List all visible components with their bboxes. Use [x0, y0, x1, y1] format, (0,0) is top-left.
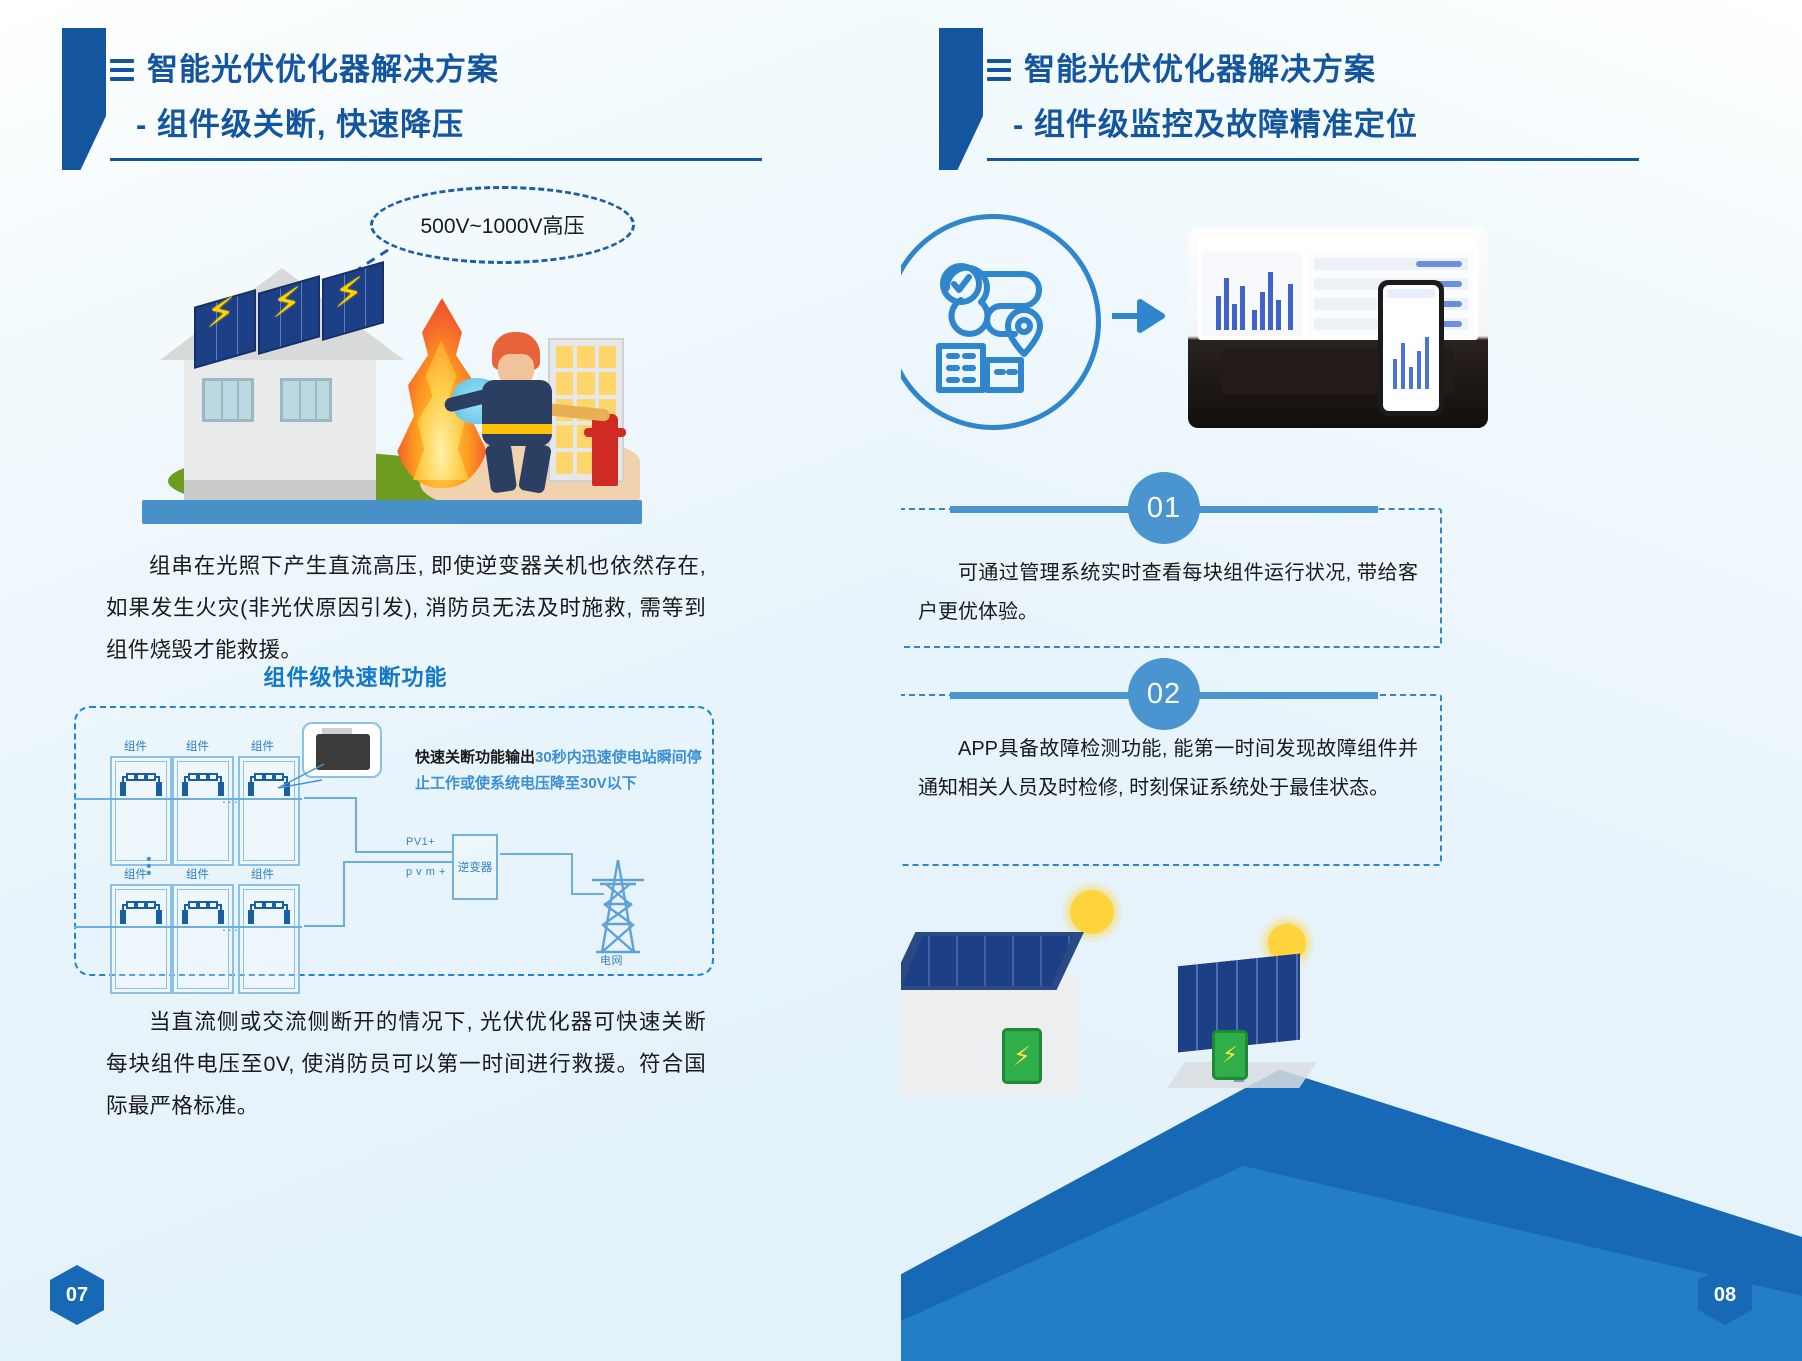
- module-label: 组件: [124, 866, 147, 882]
- page-subtitle: - 组件级关断, 快速降压: [136, 99, 499, 144]
- step-bar-right: [1186, 506, 1378, 513]
- string-wire-top: [74, 798, 302, 800]
- lightning-bolt-icon: ⚡: [206, 288, 236, 337]
- house-window: [280, 378, 332, 422]
- diagram-title: 组件级快速断功能: [0, 660, 806, 692]
- page-left: 智能光伏优化器解决方案 - 组件级关断, 快速降压 500V~1000V高压 ⚡: [0, 0, 901, 1361]
- paragraph-high-voltage: 组串在光照下产生直流高压, 即使逆变器关机也依然存在, 如果发生火灾(非光伏原因…: [106, 546, 706, 672]
- module-label: 组件: [251, 866, 274, 882]
- inverter-box: 逆变器: [452, 834, 498, 900]
- battery-icon: [1212, 1030, 1248, 1080]
- page-title: 智能光伏优化器解决方案: [147, 54, 499, 87]
- annotation-black-text: 快速关断功能输出: [415, 749, 535, 766]
- arrow-right-icon: [1110, 296, 1166, 336]
- module-label: 组件: [124, 738, 147, 754]
- step-text-01: 可通过管理系统实时查看每块组件运行状况, 带给客户更优体验。: [918, 554, 1418, 632]
- module-label: 组件: [186, 738, 209, 754]
- grid-label: 电网: [600, 952, 623, 968]
- shutdown-annotation: 快速关断功能输出30秒内迅速使电站瞬间停止工作或使系统电压降至30V以下: [415, 745, 715, 796]
- header-flag-shape: [939, 28, 983, 170]
- fire-hydrant: [592, 414, 618, 486]
- pv-module-box: [172, 884, 234, 994]
- header-text-block: 智能光伏优化器解决方案 - 组件级监控及故障精准定位: [987, 54, 1418, 144]
- pv-module-box: [110, 884, 172, 994]
- brochure-spread: 智能光伏优化器解决方案 - 组件级关断, 快速降压 500V~1000V高压 ⚡: [0, 0, 1802, 1361]
- step-bar-right: [1186, 692, 1378, 699]
- lightning-bolt-icon: ⚡: [334, 268, 364, 317]
- right-header: 智能光伏优化器解决方案 - 组件级监控及故障精准定位: [939, 28, 1639, 168]
- sun-icon: [1070, 890, 1114, 934]
- page-subtitle: - 组件级监控及故障精准定位: [1013, 99, 1418, 144]
- string-wire-bottom: [74, 926, 302, 928]
- lightning-bolt-icon: ⚡: [272, 278, 302, 327]
- pv-module-box: [172, 756, 234, 866]
- module-label: 组件: [186, 866, 209, 882]
- page-number-left: 07: [50, 1265, 104, 1325]
- phone-app-mockup: [1378, 280, 1444, 416]
- firefighter-figure: [478, 332, 570, 492]
- ground-bar: [142, 500, 642, 524]
- battery-icon: [1002, 1028, 1042, 1084]
- step-card-01: 01 可通过管理系统实时查看每块组件运行状况, 带给客户更优体验。: [901, 508, 1442, 648]
- dashboard-chart-panel: [1202, 252, 1302, 336]
- module-label: 组件: [251, 738, 274, 754]
- callout-leader-lines: [276, 760, 326, 794]
- solar-house: [901, 976, 1080, 1096]
- header-underline: [987, 158, 1639, 161]
- pvm-plus-label: p v m +: [406, 866, 446, 878]
- roof-panel-array: [902, 936, 1072, 986]
- power-tower-icon: [588, 858, 648, 954]
- hamburger-icon: [987, 59, 1011, 81]
- hamburger-icon: [110, 59, 134, 81]
- left-header: 智能光伏优化器解决方案 - 组件级关断, 快速降压: [62, 28, 762, 168]
- page-right: 智能光伏优化器解决方案 - 组件级监控及故障精准定位: [901, 0, 1802, 1361]
- ellipsis-top: ...: [222, 790, 240, 806]
- step-bar-left: [950, 506, 1142, 513]
- header-flag-shape: [62, 28, 106, 170]
- paragraph-shutdown-benefit: 当直流侧或交流侧断开的情况下, 光伏优化器可快速关断每块组件电压至0V, 使消防…: [106, 1002, 706, 1128]
- step-badge-01: 01: [1128, 472, 1200, 544]
- speech-bubble: 500V~1000V高压: [370, 186, 635, 264]
- pv-module-box: [110, 756, 172, 866]
- step-bar-left: [950, 692, 1142, 699]
- page-title: 智能光伏优化器解决方案: [1024, 54, 1376, 87]
- header-text-block: 智能光伏优化器解决方案 - 组件级关断, 快速降压: [110, 54, 499, 144]
- step-card-02: 02 APP具备故障检测功能, 能第一时间发现故障组件并通知相关人员及时检修, …: [901, 694, 1442, 866]
- house-window: [202, 378, 254, 422]
- cloud-check-location-building-icon: [925, 250, 1067, 396]
- pv1-plus-label: PV1+: [406, 836, 435, 848]
- step-badge-02: 02: [1128, 658, 1200, 730]
- header-underline: [110, 158, 762, 161]
- step-text-02: APP具备故障检测功能, 能第一时间发现故障组件并通知相关人员及时检修, 时刻保…: [918, 730, 1418, 808]
- ellipsis-bottom: ...: [222, 918, 240, 934]
